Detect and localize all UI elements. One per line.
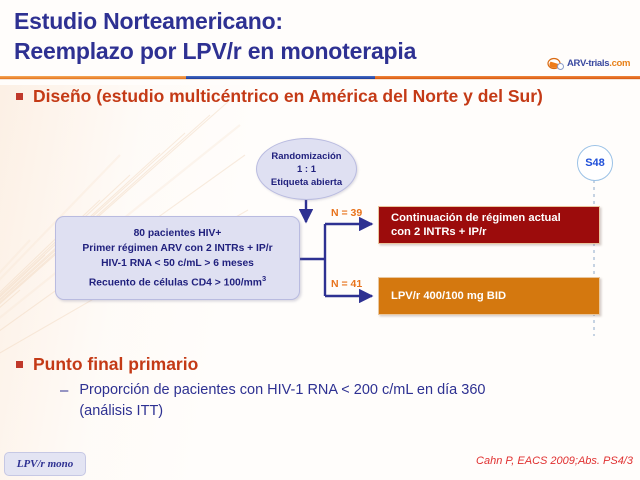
square-bullet-icon (16, 361, 23, 368)
footer-citation: Cahn P, EACS 2009;Abs. PS4/3 (476, 455, 633, 467)
arm-mono-n-label: N = 41 (331, 278, 362, 290)
divider-hairline (0, 79, 640, 80)
bullet-endpoint: Punto final primario (16, 352, 198, 376)
arm-control-line-2: con 2 INTRs + IP/r (379, 225, 561, 240)
population-line-1: 80 pacientes HIV+ (134, 226, 222, 241)
slide-title: Estudio Norteamericano: Reemplazo por LP… (14, 6, 534, 66)
timepoint-s48-badge: S48 (577, 145, 613, 181)
square-bullet-icon (16, 93, 23, 100)
population-line-4: Recuento de células CD4 > 100/mm3 (89, 271, 266, 290)
sub-bullet-line-1: Proporción de pacientes con HIV-1 RNA < … (79, 380, 485, 401)
capsule-icon (547, 57, 567, 71)
arv-trials-logo[interactable]: ARV-trials.com (545, 56, 635, 76)
population-line-3: HIV-1 RNA < 50 c/mL > 6 meses (101, 256, 254, 271)
population-line-2: Primer régimen ARV con 2 INTRs + IP/r (82, 241, 272, 256)
footer-study-badge: LPV/r mono (4, 452, 86, 476)
bullet-design: Diseño (estudio multicéntrico en América… (16, 84, 543, 108)
arm-control-line-1: Continuación de régimen actual (379, 211, 561, 226)
population-line-4-text: Recuento de células CD4 > 100/mm (89, 277, 262, 288)
bullet-endpoint-label: Punto final primario (33, 352, 198, 376)
bullet-design-label: Diseño (estudio multicéntrico en América… (33, 84, 543, 108)
sub-bullet-line-2: (análisis ITT) (79, 401, 485, 422)
sub-bullet-endpoint-detail: – Proporción de pacientes con HIV-1 RNA … (60, 380, 620, 422)
randomization-line-1: Randomización (271, 150, 341, 163)
title-line-2: Reemplazo por LPV/r en monoterapia (14, 36, 534, 66)
logo-wordmark: ARV-trials.com (567, 58, 630, 69)
title-line-1: Estudio Norteamericano: (14, 6, 534, 36)
arm-control-node: Continuación de régimen actual con 2 INT… (378, 206, 600, 244)
population-line-4-superscript: 3 (262, 274, 266, 283)
randomization-node: Randomización 1 : 1 Etiqueta abierta (256, 138, 357, 200)
randomization-line-2: 1 : 1 (297, 163, 316, 176)
slide-canvas: Estudio Norteamericano: Reemplazo por LP… (0, 0, 640, 480)
arm-control-n-label: N = 39 (331, 207, 362, 219)
arm-mono-line-1: LPV/r 400/100 mg BID (379, 289, 506, 304)
footer-study-badge-label: LPV/r mono (17, 458, 74, 470)
logo-wordmark-main: ARV-trials (567, 58, 609, 69)
population-node: 80 pacientes HIV+ Primer régimen ARV con… (55, 216, 300, 300)
randomization-line-3: Etiqueta abierta (271, 176, 342, 189)
timepoint-s48-label: S48 (585, 157, 605, 169)
dash-bullet-icon: – (60, 380, 68, 401)
logo-wordmark-suffix: .com (609, 58, 630, 69)
arm-mono-node: LPV/r 400/100 mg BID (378, 277, 600, 315)
